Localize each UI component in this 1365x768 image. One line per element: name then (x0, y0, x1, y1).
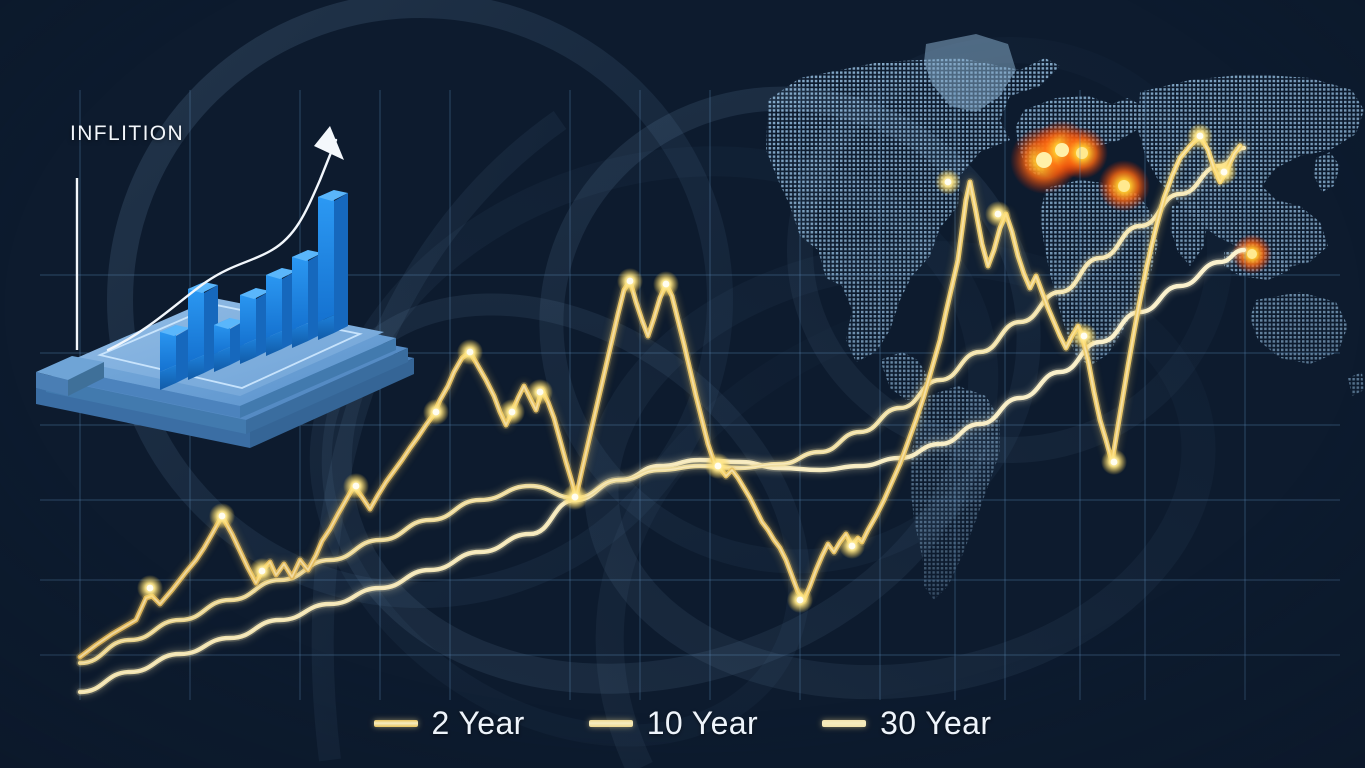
chart-legend: 2 Year 10 Year 30 Year (0, 705, 1365, 742)
legend-label-2-year: 2 Year (432, 705, 525, 742)
legend-label-30-year: 30 Year (880, 705, 991, 742)
legend-item-30-year[interactable]: 30 Year (822, 705, 991, 742)
legend-swatch-30-year (822, 720, 866, 727)
legend-swatch-10-year (589, 720, 633, 727)
inflation-label: INFLITION (70, 122, 184, 146)
legend-swatch-2-year (374, 720, 418, 727)
legend-label-10-year: 10 Year (647, 705, 758, 742)
legend-item-10-year[interactable]: 10 Year (589, 705, 758, 742)
yield-curves-layer (0, 0, 1365, 768)
infographic-canvas: INFLITION 2 Year 10 Year 30 Year (0, 0, 1365, 768)
legend-item-2-year[interactable]: 2 Year (374, 705, 525, 742)
